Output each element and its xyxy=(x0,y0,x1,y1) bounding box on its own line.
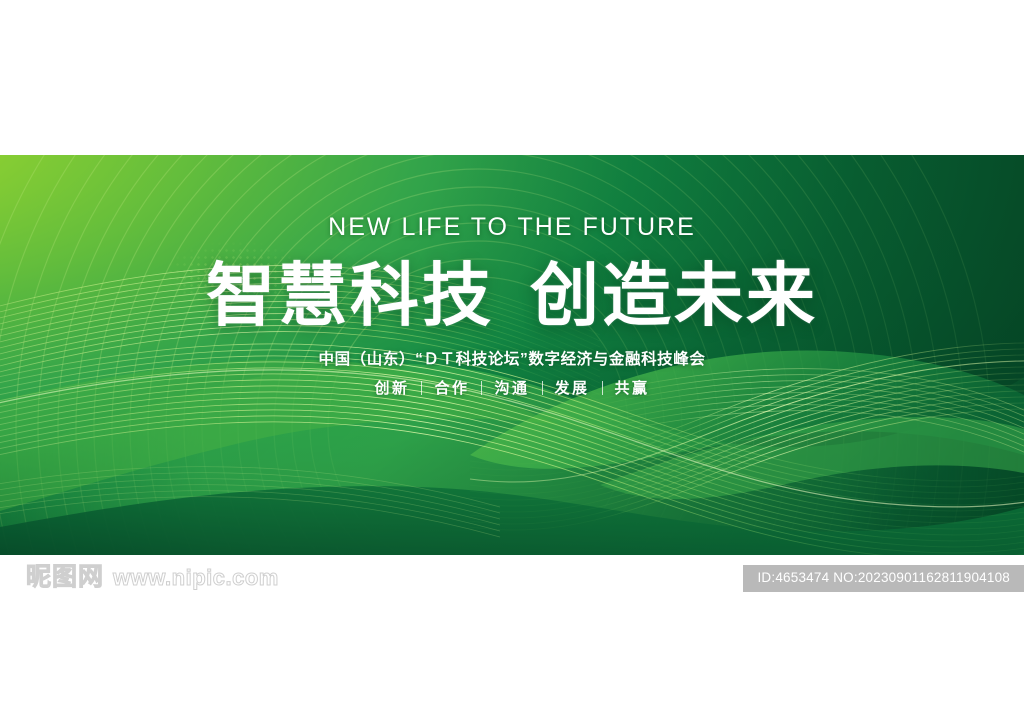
poster-headline: 智慧科技创造未来 xyxy=(0,261,1024,331)
keyword-item: 沟通 xyxy=(494,381,529,396)
footer-bar: 昵图网 www.nipic.com ID:4653474 NO:20230901… xyxy=(0,555,1024,709)
keyword-item: 共赢 xyxy=(615,381,650,396)
poster-text-block: NEW LIFE TO THE FUTURE 智慧科技创造未来 中国（山东）“Ｄ… xyxy=(0,215,1024,396)
asset-id-badge: ID:4653474 NO:20230901162811904108 xyxy=(743,565,1024,592)
watermark-site-name: 昵图网 xyxy=(26,565,104,590)
poster-subtitle: 中国（山东）“ＤＴ科技论坛”数字经济与金融科技峰会 xyxy=(0,352,1024,368)
keyword-separator xyxy=(602,381,603,395)
watermark-site-url: www.nipic.com xyxy=(113,567,279,589)
poster-page: NEW LIFE TO THE FUTURE 智慧科技创造未来 中国（山东）“Ｄ… xyxy=(0,0,1024,709)
poster-artwork: NEW LIFE TO THE FUTURE 智慧科技创造未来 中国（山东）“Ｄ… xyxy=(0,155,1024,555)
headline-part-left: 智慧科技 xyxy=(206,257,494,334)
keyword-separator xyxy=(421,381,422,395)
headline-part-right: 创造未来 xyxy=(530,257,818,334)
keyword-item: 发展 xyxy=(555,381,590,396)
keyword-separator xyxy=(481,381,482,395)
keyword-item: 合作 xyxy=(434,381,469,396)
keyword-item: 创新 xyxy=(374,381,409,396)
poster-keywords: 创新合作沟通发展共赢 xyxy=(0,381,1024,396)
keyword-separator xyxy=(542,381,543,395)
site-watermark: 昵图网 www.nipic.com xyxy=(26,565,279,590)
poster-eyebrow: NEW LIFE TO THE FUTURE xyxy=(0,215,1024,240)
